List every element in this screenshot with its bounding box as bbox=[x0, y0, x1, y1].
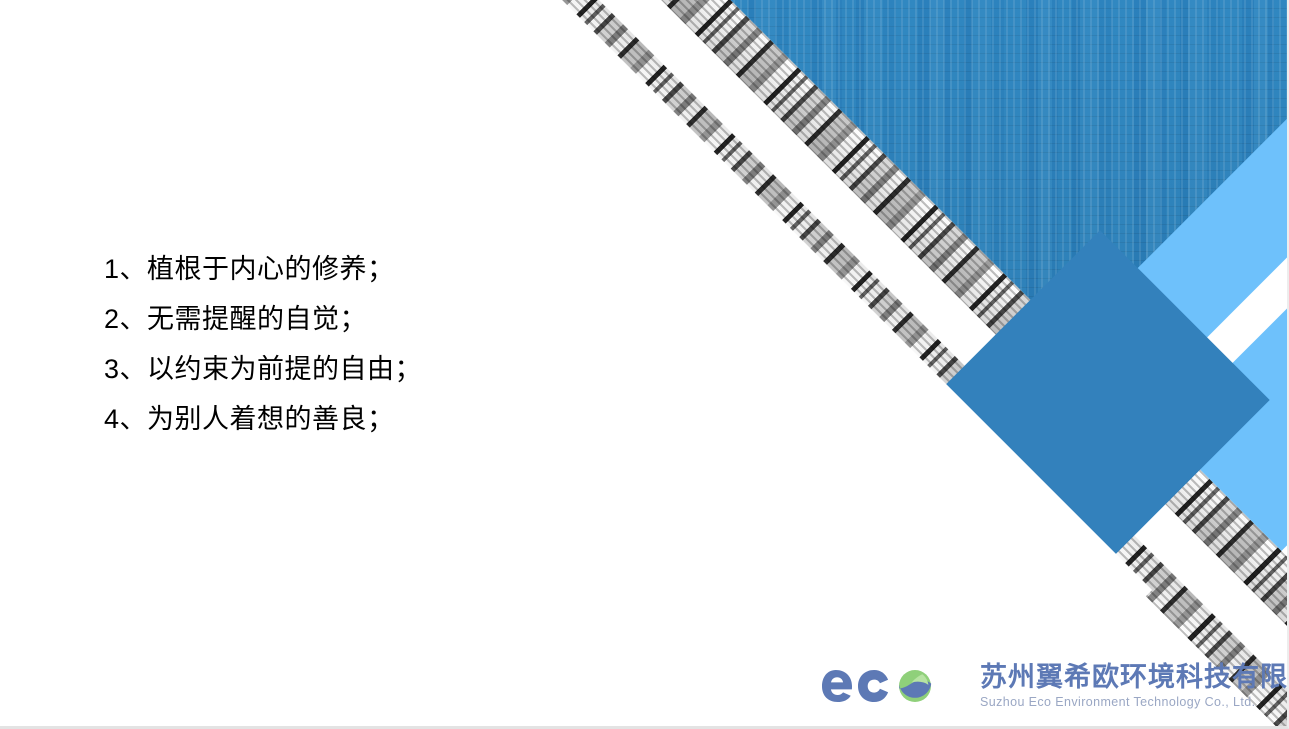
company-name-en: Suzhou Eco Environment Technology Co., L… bbox=[980, 696, 1289, 709]
bullet-item-4: 4、为别人着想的善良； bbox=[104, 394, 534, 444]
company-name-cn: 苏州翼希欧环境科技有限公司 bbox=[980, 664, 1289, 691]
bullet-item-2: 2、无需提醒的自觉； bbox=[104, 294, 534, 344]
light-blue-diamond-large bbox=[903, 0, 1287, 597]
year-label: 2022 bbox=[737, 430, 924, 516]
eco-logo-icon bbox=[822, 660, 968, 712]
bullet-list: 1、植根于内心的修养； 2、无需提醒的自觉； 3、以约束为前提的自由； 4、为别… bbox=[104, 244, 534, 444]
presentation-slide: 2022 1、植根于内心的修养； 2、无需提醒的自觉； 3、以约束为前提的自由；… bbox=[0, 0, 1289, 729]
company-name-block: 苏州翼希欧环境科技有限公司 Suzhou Eco Environment Tec… bbox=[980, 664, 1289, 709]
company-logo: 苏州翼希欧环境科技有限公司 Suzhou Eco Environment Tec… bbox=[822, 660, 1289, 712]
white-separator-wedge-lower bbox=[522, 0, 1287, 726]
bullet-item-3: 3、以约束为前提的自由； bbox=[104, 344, 534, 394]
bullet-item-1: 1、植根于内心的修养； bbox=[104, 244, 534, 294]
white-mask-bottom bbox=[0, 648, 820, 726]
steel-blue-diamond bbox=[930, 230, 1269, 569]
